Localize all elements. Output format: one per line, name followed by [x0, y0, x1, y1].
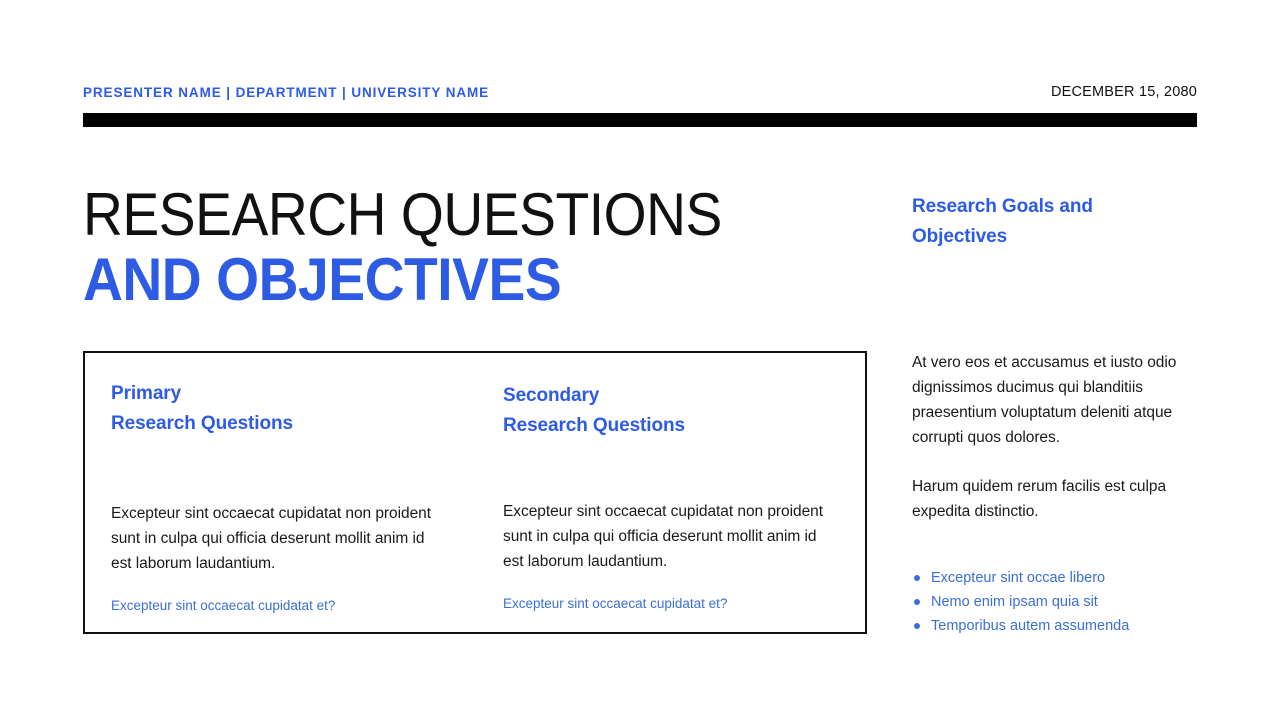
primary-heading-line2: Research Questions	[111, 409, 449, 439]
presenter-affiliation-line: PRESENTER NAME | DEPARTMENT | UNIVERSITY…	[83, 85, 489, 100]
list-item[interactable]: Nemo enim ipsam quia sit	[912, 590, 1202, 614]
secondary-questions-body: Excepteur sint occaecat cupidatat non pr…	[503, 499, 839, 574]
list-item[interactable]: Excepteur sint occae libero	[912, 566, 1202, 590]
secondary-questions-heading: Secondary Research Questions	[503, 381, 839, 441]
slide-title: RESEARCH QUESTIONS AND OBJECTIVES	[83, 184, 883, 314]
secondary-heading-line1: Secondary	[503, 381, 839, 411]
slide-header: PRESENTER NAME | DEPARTMENT | UNIVERSITY…	[83, 80, 1197, 104]
presentation-date: DECEMBER 15, 2080	[1051, 84, 1197, 100]
research-goals-heading-line2: Objectives	[912, 222, 1202, 252]
research-goals-heading-line1: Research Goals and	[912, 192, 1202, 222]
header-divider-bar	[83, 113, 1197, 127]
title-line-primary: RESEARCH QUESTIONS	[83, 184, 819, 246]
primary-heading-line1: Primary	[111, 379, 449, 409]
primary-questions-link[interactable]: Excepteur sint occaecat cupidatat et?	[111, 596, 449, 616]
research-questions-panel: Primary Research Questions Excepteur sin…	[83, 351, 867, 634]
title-line-accent: AND OBJECTIVES	[83, 246, 819, 314]
primary-questions-heading: Primary Research Questions	[111, 379, 449, 439]
research-goals-paragraph-1: At vero eos et accusamus et iusto odio d…	[912, 350, 1197, 450]
list-item[interactable]: Temporibus autem assumenda	[912, 614, 1202, 638]
research-goals-heading-block: Research Goals and Objectives	[912, 192, 1202, 252]
secondary-heading-line2: Research Questions	[503, 411, 839, 441]
secondary-questions-link[interactable]: Excepteur sint occaecat cupidatat et?	[503, 594, 839, 614]
primary-questions-column: Primary Research Questions Excepteur sin…	[85, 353, 475, 632]
primary-questions-body: Excepteur sint occaecat cupidatat non pr…	[111, 501, 449, 576]
secondary-questions-column: Secondary Research Questions Excepteur s…	[475, 353, 865, 632]
research-goals-paragraph-2: Harum quidem rerum facilis est culpa exp…	[912, 474, 1197, 524]
research-goals-bullet-list: Excepteur sint occae libero Nemo enim ip…	[912, 566, 1202, 638]
slide-root: PRESENTER NAME | DEPARTMENT | UNIVERSITY…	[0, 0, 1280, 720]
